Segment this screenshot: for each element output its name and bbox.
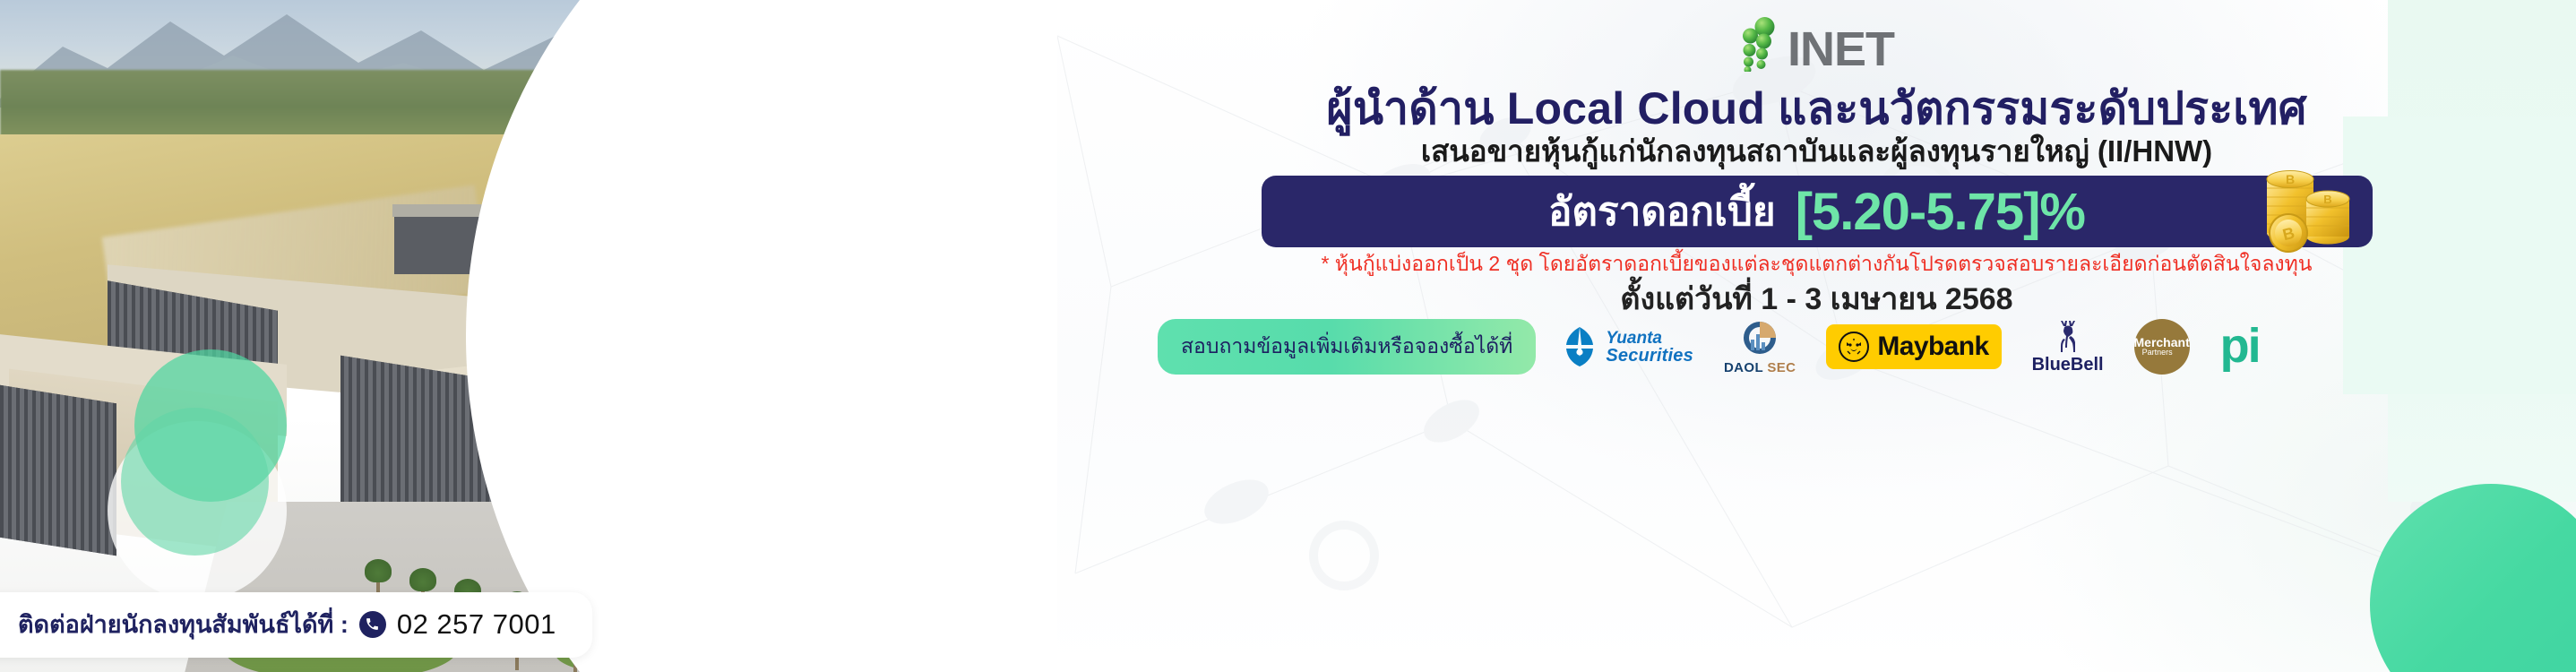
partner-logo-yuanta[interactable]: Yuanta Securities (1561, 326, 1693, 367)
maybank-wordmark: Maybank (1877, 332, 1988, 362)
interest-rate-box: อัตราดอกเบี้ย [5.20-5.75]% (1262, 176, 2373, 247)
inet-dots-icon (1739, 16, 1780, 72)
svg-text:B: B (2323, 193, 2331, 206)
partner-logo-bluebell[interactable]: BlueBell (2032, 318, 2104, 375)
inet-bond-offering-banner: ติดต่อฝ่ายนักลงทุนสัมพันธ์ได้ที่ : 02 25… (0, 0, 2576, 672)
daol-line1: DAOL (1724, 360, 1763, 375)
partner-logo-maybank[interactable]: Maybank (1826, 324, 2001, 369)
merchant-circle-icon: Merchant Partners (2134, 319, 2190, 375)
merchant-line2: Partners (2142, 349, 2173, 358)
offer-date-range: ตั้งแต่วันที่ 1 - 3 เมษายน 2568 (1057, 274, 2576, 323)
inet-logo: INET (1739, 16, 1894, 72)
maybank-tiger-icon (1839, 332, 1869, 362)
interest-rate-label: อัตราดอกเบี้ย (1548, 180, 1776, 243)
yuanta-mark-icon (1561, 326, 1598, 367)
offer-content: INET ผู้นำด้าน Local Cloud และนวัตกรรมระ… (1057, 0, 2576, 672)
partner-logo-pi[interactable]: pi (2220, 327, 2260, 366)
bluebell-wordmark: BlueBell (2032, 355, 2104, 375)
contact-phone-number: 02 257 7001 (397, 608, 556, 641)
investor-relations-contact[interactable]: ติดต่อฝ่ายนักลงทุนสัมพันธ์ได้ที่ : 02 25… (0, 592, 592, 658)
contact-label: ติดต่อฝ่ายนักลงทุนสัมพันธ์ได้ที่ : (18, 605, 349, 643)
partner-logo-daol-sec[interactable]: DAOL SEC (1724, 318, 1796, 375)
yuanta-line2: Securities (1606, 347, 1693, 365)
gold-coins-icon: B B B (2260, 147, 2356, 254)
partner-logo-merchant-partners[interactable]: Merchant Partners (2134, 319, 2190, 375)
daol-wordmark: DAOL SEC (1724, 360, 1796, 375)
daol-mark-icon (1740, 318, 1779, 358)
bluebell-deer-icon (2052, 318, 2084, 354)
partner-logos: Yuanta Securities (1561, 318, 2259, 375)
green-circle-overlay (121, 408, 269, 556)
yuanta-wordmark: Yuanta Securities (1606, 330, 1693, 365)
svg-text:B: B (2285, 172, 2294, 186)
data-center-photo (0, 0, 1057, 672)
cta-and-partners-row: สอบถามข้อมูลเพิ่มเติมหรือจองซื้อได้ที่ Y… (1057, 318, 2560, 375)
inet-wordmark: INET (1788, 28, 1894, 72)
inquire-subscribe-button[interactable]: สอบถามข้อมูลเพิ่มเติมหรือจองซื้อได้ที่ (1158, 319, 1536, 375)
yuanta-line1: Yuanta (1606, 330, 1693, 347)
photo-curve-mask (466, 0, 1057, 672)
interest-rate-value: [5.20-5.75]% (1796, 182, 2085, 242)
pi-wordmark: pi (2220, 327, 2260, 366)
phone-icon (359, 611, 386, 638)
merchant-line1: Merchant (2134, 336, 2190, 349)
daol-line2: SEC (1767, 360, 1796, 375)
